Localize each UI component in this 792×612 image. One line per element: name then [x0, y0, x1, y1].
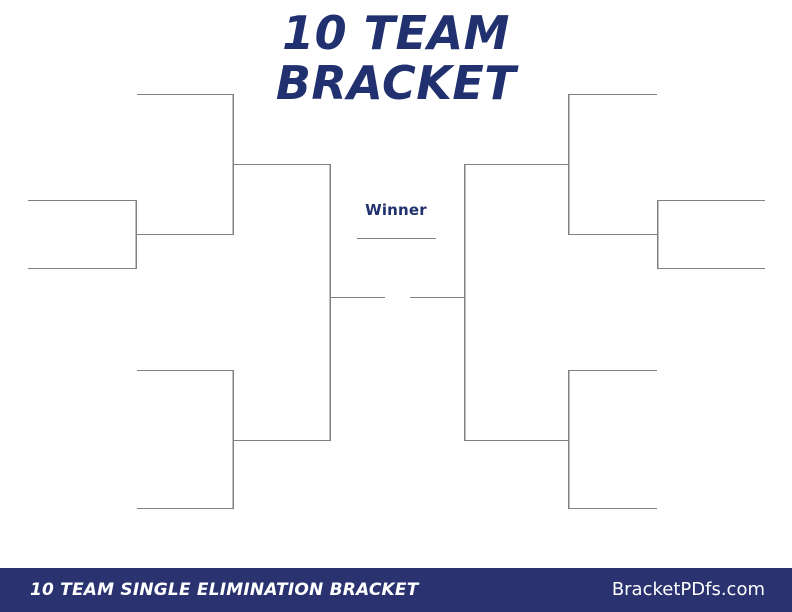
left-r2-match-1 — [137, 95, 234, 235]
right-r2-match-2 — [568, 371, 657, 509]
left-r1-match-1 — [28, 201, 137, 269]
footer-website-link[interactable]: BracketPDfs.com — [612, 579, 765, 600]
bracket-diagram — [0, 0, 792, 560]
winner-label: Winner — [336, 201, 456, 219]
right-r1-match-1 — [657, 201, 765, 269]
right-r3-match-1 — [464, 165, 568, 441]
left-r2-match-2 — [137, 371, 234, 509]
winner-entry-line[interactable] — [357, 238, 436, 239]
right-r2-match-1 — [568, 95, 657, 235]
footer-title: 10 TEAM SINGLE ELIMINATION BRACKET — [30, 580, 419, 600]
bracket-page: 10 TEAM BRACKET — [0, 0, 792, 612]
footer-bar: 10 TEAM SINGLE ELIMINATION BRACKET Brack… — [0, 568, 792, 612]
left-r3-match-1 — [234, 165, 331, 441]
